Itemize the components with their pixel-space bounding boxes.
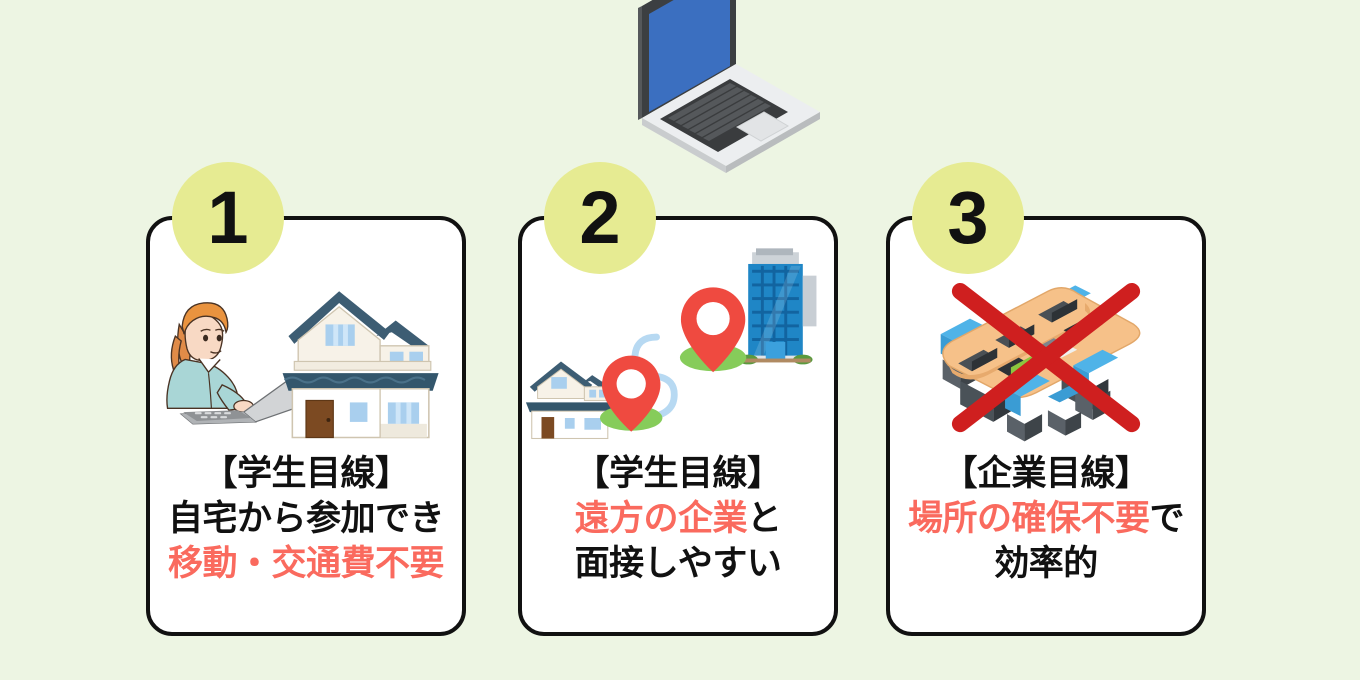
card-2-caption-line-3: 面接しやすい: [522, 542, 834, 587]
card-number-badge-3: 3: [912, 162, 1024, 274]
small-house-icon: [526, 361, 614, 438]
card-3-caption: 【企業目線】 場所の確保不要で 効率的: [890, 452, 1202, 586]
card-1-caption-line-1: 【学生目線】: [150, 452, 462, 497]
card-1-caption-line-3-highlight: 移動・交通費不要: [168, 544, 444, 583]
card-2-caption: 【学生目線】 遠方の企業と 面接しやすい: [522, 452, 834, 586]
woman-on-laptop-icon: [167, 303, 306, 424]
card-1-caption: 【学生目線】 自宅から参加でき 移動・交通費不要: [150, 452, 462, 586]
office-building-icon: [738, 248, 816, 364]
card-1-caption-line-2: 自宅から参加でき: [150, 497, 462, 542]
card-3-caption-line-1: 【企業目線】: [890, 452, 1202, 497]
house-icon: [283, 291, 439, 437]
card-2-caption-line-1: 【学生目線】: [522, 452, 834, 497]
benefit-card-3[interactable]: 3: [886, 216, 1206, 636]
card-3-caption-line-2-tail: で: [1150, 499, 1185, 538]
benefit-card-1[interactable]: 1: [146, 216, 466, 636]
meeting-room-icon: [941, 285, 1140, 441]
benefit-cards-row: 1: [0, 0, 1360, 680]
benefit-card-2[interactable]: 2: [518, 216, 838, 636]
card-3-caption-line-2-highlight: 場所の確保不要: [908, 499, 1150, 538]
card-2-caption-line-2-tail: と: [747, 499, 782, 538]
map-pin-start-icon: [600, 356, 662, 432]
map-pin-destination-icon: [680, 287, 746, 372]
card-2-caption-line-2-highlight: 遠方の企業: [574, 499, 747, 538]
card-3-caption-line-3: 効率的: [890, 542, 1202, 587]
card-number-badge-1: 1: [172, 162, 284, 274]
card-number-badge-2: 2: [544, 162, 656, 274]
